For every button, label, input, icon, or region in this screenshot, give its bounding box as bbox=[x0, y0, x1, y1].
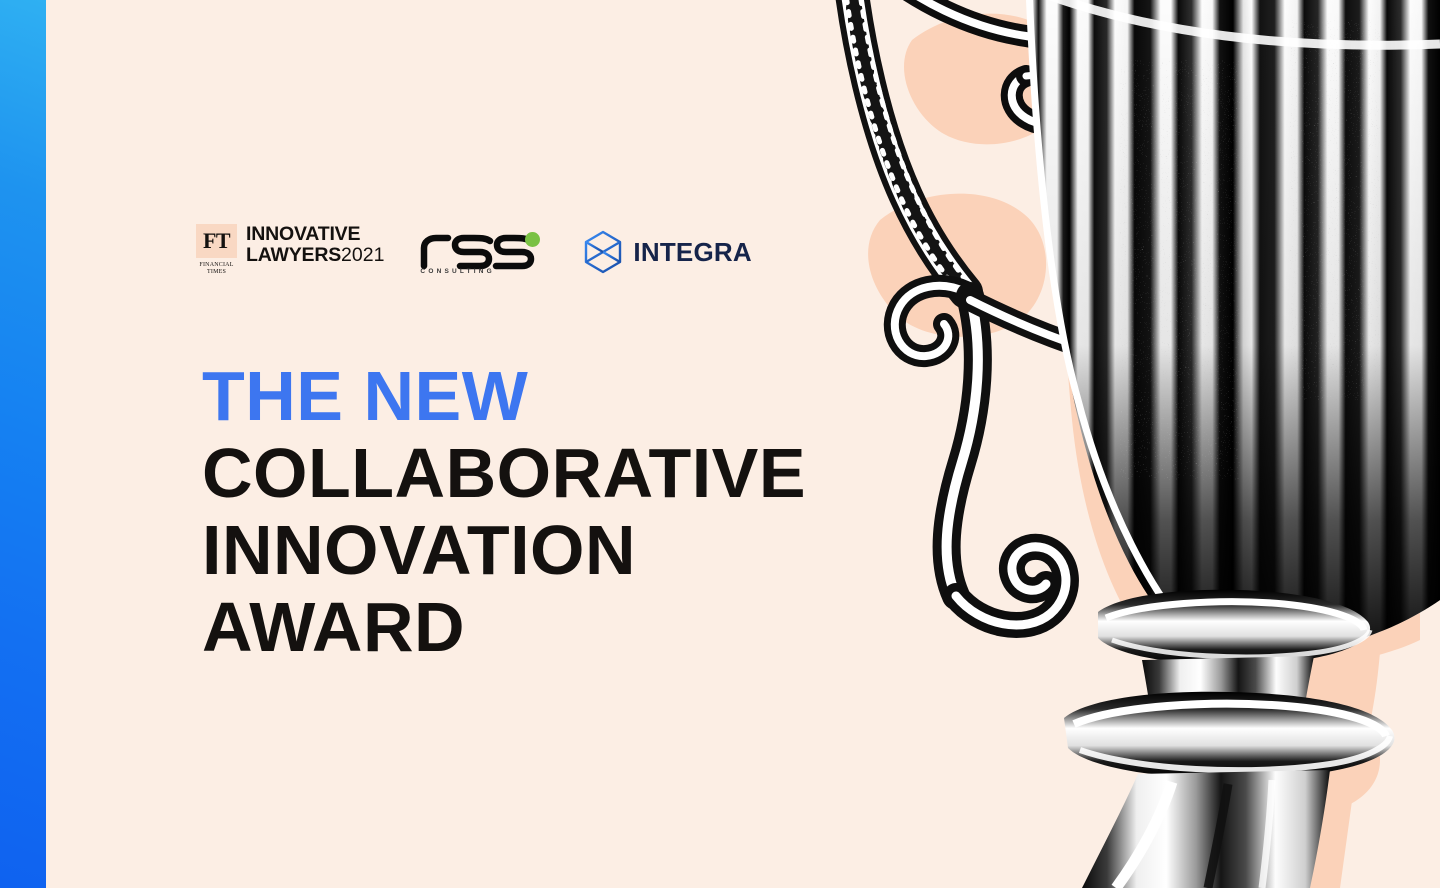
award-announcement-banner: FT Financial Times INNOVATIVE LAWYERS202… bbox=[0, 0, 1440, 888]
trophy-artwork bbox=[820, 0, 1440, 888]
headline-line-4: AWARD bbox=[202, 589, 902, 666]
ft-innovative-text: INNOVATIVE bbox=[246, 224, 384, 245]
ft-year-text: 2021 bbox=[341, 244, 384, 266]
ft-lawyers-line: LAWYERS2021 bbox=[246, 245, 384, 266]
ft-innovative-lawyers-logo: FT Financial Times INNOVATIVE LAWYERS202… bbox=[196, 223, 384, 281]
rsg-consulting-label: CONSULTING bbox=[420, 269, 495, 276]
partner-logo-row: FT Financial Times INNOVATIVE LAWYERS202… bbox=[196, 222, 752, 282]
ft-monogram-box: FT bbox=[196, 224, 237, 258]
headline-line-1: THE NEW bbox=[202, 358, 902, 435]
headline-line-2: COLLABORATIVE bbox=[202, 435, 902, 512]
integra-wordmark: INTEGRA bbox=[633, 239, 751, 265]
ft-mark: FT Financial Times bbox=[196, 223, 237, 276]
integra-hexagon-cube-icon bbox=[580, 229, 626, 275]
rsg-wordmark bbox=[418, 232, 542, 272]
ft-monogram-text: FT bbox=[203, 230, 230, 252]
headline: THE NEW COLLABORATIVE INNOVATION AWARD bbox=[202, 358, 902, 666]
rsg-consulting-logo: CONSULTING bbox=[418, 223, 542, 281]
headline-line-3: INNOVATION bbox=[202, 512, 902, 589]
left-gradient-bar bbox=[0, 0, 46, 888]
trophy-bowl bbox=[1026, 0, 1440, 660]
integra-logo: INTEGRA bbox=[580, 223, 751, 281]
ft-financial-times-label: Financial Times bbox=[196, 262, 237, 276]
ft-lawyers-text: LAWYERS bbox=[246, 244, 341, 266]
ft-wordmark: INNOVATIVE LAWYERS2021 bbox=[246, 223, 384, 266]
